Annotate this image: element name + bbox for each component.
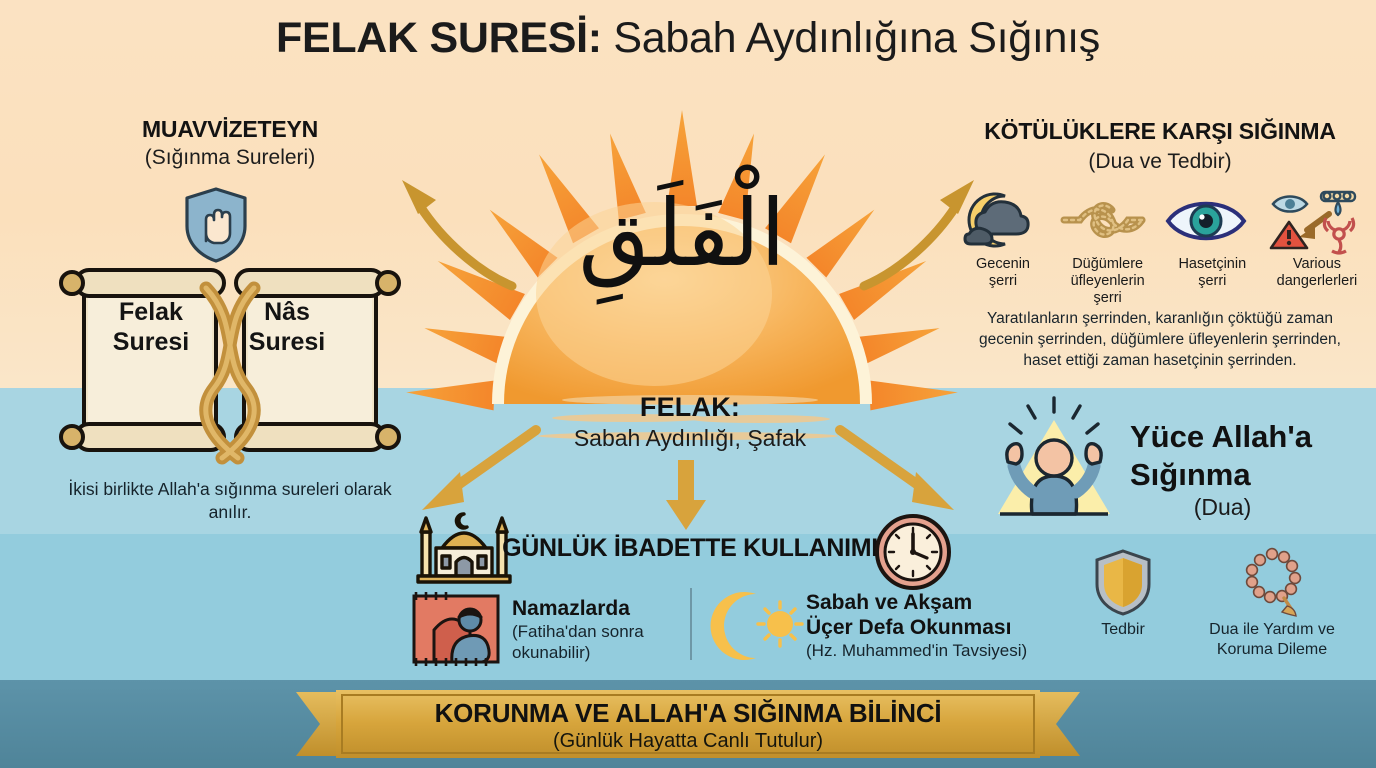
scroll-label-nas: Nâs Suresi bbox=[232, 297, 342, 357]
left-section-note: İkisi birlikte Allah'a sığınma sureleri … bbox=[60, 478, 400, 524]
evil-envy-line1: Hasetçinin bbox=[1164, 256, 1260, 273]
banner-subheading: (Günlük Hayatta Canlı Tutulur) bbox=[336, 730, 1040, 753]
page-title: FELAK SURESİ: Sabah Aydınlığına Sığınış bbox=[0, 14, 1376, 63]
evil-caption-various: Various dangerlerleri bbox=[1269, 256, 1365, 290]
scroll-nas-line2: Suresi bbox=[232, 327, 342, 357]
mini-caption-dua-beads: Dua ile Yardım ve Koruma Dileme bbox=[1182, 620, 1362, 660]
page-title-bold: FELAK SURESİ: bbox=[276, 14, 602, 62]
twin-scrolls-icon bbox=[60, 262, 400, 460]
banner-heading: KORUNMA VE ALLAH'A SIĞINMA BİLİNCİ bbox=[336, 698, 1040, 729]
duty-item-namazlarda: Namazlarda (Fatiha'dan sonra okunabilir) bbox=[512, 596, 682, 663]
worship-divider bbox=[690, 588, 692, 660]
right-section-paragraph: Yaratılanların şerrinden, karanlığın çök… bbox=[958, 308, 1362, 371]
clock-icon bbox=[873, 512, 953, 592]
evils-icon-row: Gecenin şerri Düğümlere üfleyenlerin şer… bbox=[955, 190, 1365, 300]
duty-note-namazlarda-line1: (Fatiha'dan sonra bbox=[512, 621, 682, 642]
evil-envy-line2: şerri bbox=[1164, 273, 1260, 290]
evil-caption-envy: Hasetçinin şerri bbox=[1164, 256, 1260, 290]
evil-item-knots: Düğümlere üfleyenlerin şerri bbox=[1060, 190, 1156, 300]
evil-various-line1: Various bbox=[1269, 256, 1365, 273]
left-section-subheading: (Sığınma Sureleri) bbox=[60, 146, 400, 170]
knot-rope-icon bbox=[1060, 190, 1146, 252]
duty-item-sabah-aksam: Sabah ve Akşam Üçer Defa Okunması (Hz. M… bbox=[806, 590, 1036, 661]
shield-icon bbox=[1093, 548, 1153, 616]
evil-night-line1: Gecenin bbox=[955, 256, 1051, 273]
dua-title-line1: Yüce Allah'a bbox=[1130, 418, 1370, 456]
arrow-up-left-icon bbox=[392, 168, 520, 288]
mini-dua-line1: Dua ile Yardım ve bbox=[1182, 620, 1362, 640]
prayer-beads-icon bbox=[1238, 548, 1306, 616]
duty-title-namazlarda: Namazlarda bbox=[512, 596, 682, 621]
scroll-felak-line1: Felak bbox=[96, 297, 206, 327]
praying-raised-hands-icon bbox=[986, 396, 1122, 528]
dua-subtitle: (Dua) bbox=[1130, 494, 1315, 521]
scroll-nas-line1: Nâs bbox=[232, 297, 342, 327]
scroll-label-felak: Felak Suresi bbox=[96, 297, 206, 357]
shield-hand-icon bbox=[183, 186, 249, 264]
right-section-subheading: (Dua ve Tedbir) bbox=[955, 150, 1365, 174]
infographic-canvas: FELAK SURESİ: Sabah Aydınlığına Sığınış bbox=[0, 0, 1376, 768]
dua-title-line2: Sığınma bbox=[1130, 456, 1370, 494]
duty-title-sabah-line1: Sabah ve Akşam bbox=[806, 590, 1036, 615]
evil-item-envy: Hasetçinin şerri bbox=[1164, 190, 1260, 300]
evil-caption-night: Gecenin şerri bbox=[955, 256, 1051, 290]
moon-sun-icon bbox=[712, 590, 804, 662]
daily-use-heading: GÜNLÜK İBADETTE KULLANIMI bbox=[500, 534, 880, 563]
felak-caption-sub: Sabah Aydınlığı, Şafak bbox=[480, 425, 900, 452]
duty-title-sabah-line2: Üçer Defa Okunması bbox=[806, 615, 1036, 640]
page-title-light: Sabah Aydınlığına Sığınış bbox=[602, 14, 1100, 62]
felak-meaning-caption: FELAK: Sabah Aydınlığı, Şafak bbox=[480, 392, 900, 452]
felak-caption-head: FELAK: bbox=[480, 392, 900, 423]
mini-item-tedbir: Tedbir bbox=[1076, 548, 1170, 640]
evil-item-various: Various dangerlerleri bbox=[1269, 190, 1365, 300]
praying-person-icon bbox=[412, 590, 500, 666]
various-dangers-icon bbox=[1269, 190, 1361, 252]
evil-eye-icon bbox=[1164, 190, 1248, 252]
duty-note-namazlarda-line2: okunabilir) bbox=[512, 642, 682, 663]
left-section-heading: MUAVVİZETEYN bbox=[60, 116, 400, 143]
evil-caption-knots: Düğümlere üfleyenlerin şerri bbox=[1060, 256, 1156, 307]
scroll-felak-line2: Suresi bbox=[96, 327, 206, 357]
mini-caption-tedbir: Tedbir bbox=[1076, 620, 1170, 640]
right-section-heading: KÖTÜLÜKLERE KARŞI SIĞINMA bbox=[955, 118, 1365, 145]
mini-item-dua-beads: Dua ile Yardım ve Koruma Dileme bbox=[1182, 548, 1362, 660]
duty-note-sabah: (Hz. Muhammed'in Tavsiyesi) bbox=[806, 640, 1036, 661]
night-moon-cloud-icon bbox=[955, 190, 1035, 252]
evil-various-line2: dangerlerleri bbox=[1269, 273, 1365, 290]
mini-dua-line2: Koruma Dileme bbox=[1182, 640, 1362, 660]
dua-section-text: Yüce Allah'a Sığınma (Dua) bbox=[1130, 418, 1370, 521]
evil-item-night: Gecenin şerri bbox=[955, 190, 1051, 300]
arrow-down-icon bbox=[662, 460, 710, 534]
evil-night-line2: şerri bbox=[955, 273, 1051, 290]
evil-knots-line2: üfleyenlerin şerri bbox=[1060, 273, 1156, 307]
bottom-banner-text: KORUNMA VE ALLAH'A SIĞINMA BİLİNCİ (Günl… bbox=[336, 698, 1040, 753]
evil-knots-line1: Düğümlere bbox=[1060, 256, 1156, 273]
